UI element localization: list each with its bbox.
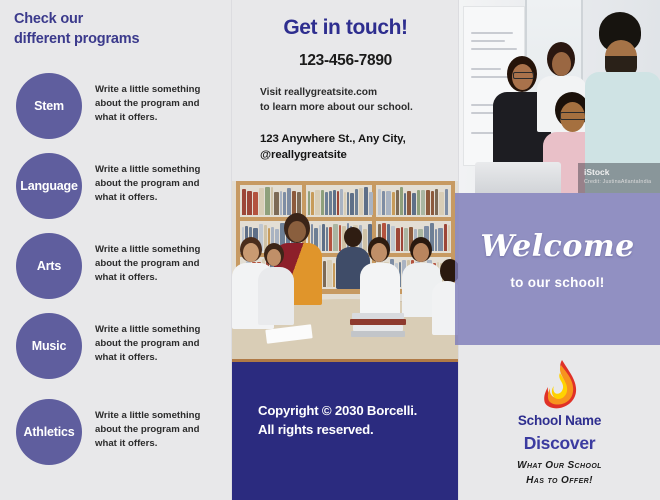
- address-text: 123 Anywhere St., Any City, @reallygreat…: [260, 131, 450, 163]
- address-handle: @reallygreatsite: [260, 147, 450, 163]
- istock-watermark: iStock Credit: JustinaAtlantaIndia: [578, 163, 660, 193]
- brochure-canvas: Check our different programs Stem Write …: [0, 0, 660, 500]
- tagline-line1: What Our School: [459, 459, 660, 474]
- phone-number[interactable]: 123-456-7890: [232, 52, 459, 70]
- program-circle-stem[interactable]: Stem: [16, 73, 82, 139]
- program-item-language[interactable]: Language Write a little something about …: [0, 153, 232, 229]
- copyright-line1: Copyright © 2030 Borcelli.: [258, 402, 448, 421]
- program-circle-label-music: Music: [32, 340, 66, 353]
- program-item-arts[interactable]: Arts Write a little something about the …: [0, 233, 232, 309]
- program-circle-arts[interactable]: Arts: [16, 233, 82, 299]
- program-description-stem: Write a little something about the progr…: [95, 83, 223, 125]
- programs-heading: Check our different programs: [14, 10, 214, 49]
- get-in-touch-title: Get in touch!: [232, 16, 459, 40]
- tagline: What Our School Has to Offer!: [459, 459, 660, 488]
- right-panel-cover: iStock Credit: JustinaAtlantaIndia Welco…: [459, 0, 660, 500]
- programs-heading-line2: different programs: [14, 30, 214, 50]
- tagline-line2: Has to Offer!: [459, 474, 660, 489]
- program-circle-music[interactable]: Music: [16, 313, 82, 379]
- copyright-bar: Copyright © 2030 Borcelli. All rights re…: [232, 362, 459, 500]
- program-circle-language[interactable]: Language: [16, 153, 82, 219]
- school-name: School Name: [459, 413, 660, 428]
- middle-panel-contact: Get in touch! 123-456-7890 Visit reallyg…: [232, 0, 459, 500]
- program-circle-athletics[interactable]: Athletics: [16, 399, 82, 465]
- welcome-title: Welcome: [455, 229, 660, 264]
- welcome-subtitle: to our school!: [455, 275, 660, 290]
- program-description-arts: Write a little something about the progr…: [95, 243, 223, 285]
- program-description-language: Write a little something about the progr…: [95, 163, 223, 205]
- programs-heading-line1: Check our: [14, 10, 214, 30]
- istock-logo-text: iStock: [584, 167, 610, 177]
- program-circle-label-language: Language: [20, 180, 77, 193]
- program-item-music[interactable]: Music Write a little something about the…: [0, 313, 232, 389]
- program-circle-label-arts: Arts: [37, 260, 61, 273]
- left-panel-programs: Check our different programs Stem Write …: [0, 0, 232, 500]
- library-photo: [232, 181, 459, 362]
- copyright-line2: All rights reserved.: [258, 421, 448, 440]
- program-description-athletics: Write a little something about the progr…: [95, 409, 223, 451]
- program-item-athletics[interactable]: Athletics Write a little something about…: [0, 399, 232, 475]
- istock-credit-text: Credit: JustinaAtlantaIndia: [584, 179, 651, 185]
- welcome-overlay-band: Welcome to our school!: [455, 193, 660, 345]
- program-item-stem[interactable]: Stem Write a little something about the …: [0, 73, 232, 149]
- program-circle-label-stem: Stem: [34, 100, 64, 113]
- address-line1: 123 Anywhere St., Any City,: [260, 131, 450, 147]
- website-line1: Visit reallygreatsite.com: [260, 86, 450, 101]
- website-line2: to learn more about our school.: [260, 101, 450, 116]
- program-description-music: Write a little something about the progr…: [95, 323, 223, 365]
- copyright-text: Copyright © 2030 Borcelli. All rights re…: [258, 402, 448, 439]
- flame-icon: [537, 359, 583, 414]
- discover-title: Discover: [459, 433, 660, 454]
- school-logo-block: School Name Discover What Our School Has…: [459, 345, 660, 500]
- program-circle-label-athletics: Athletics: [24, 426, 75, 439]
- website-text: Visit reallygreatsite.com to learn more …: [260, 86, 450, 116]
- laptop: [475, 162, 561, 193]
- students-laptop-photo: iStock Credit: JustinaAtlantaIndia: [459, 0, 660, 193]
